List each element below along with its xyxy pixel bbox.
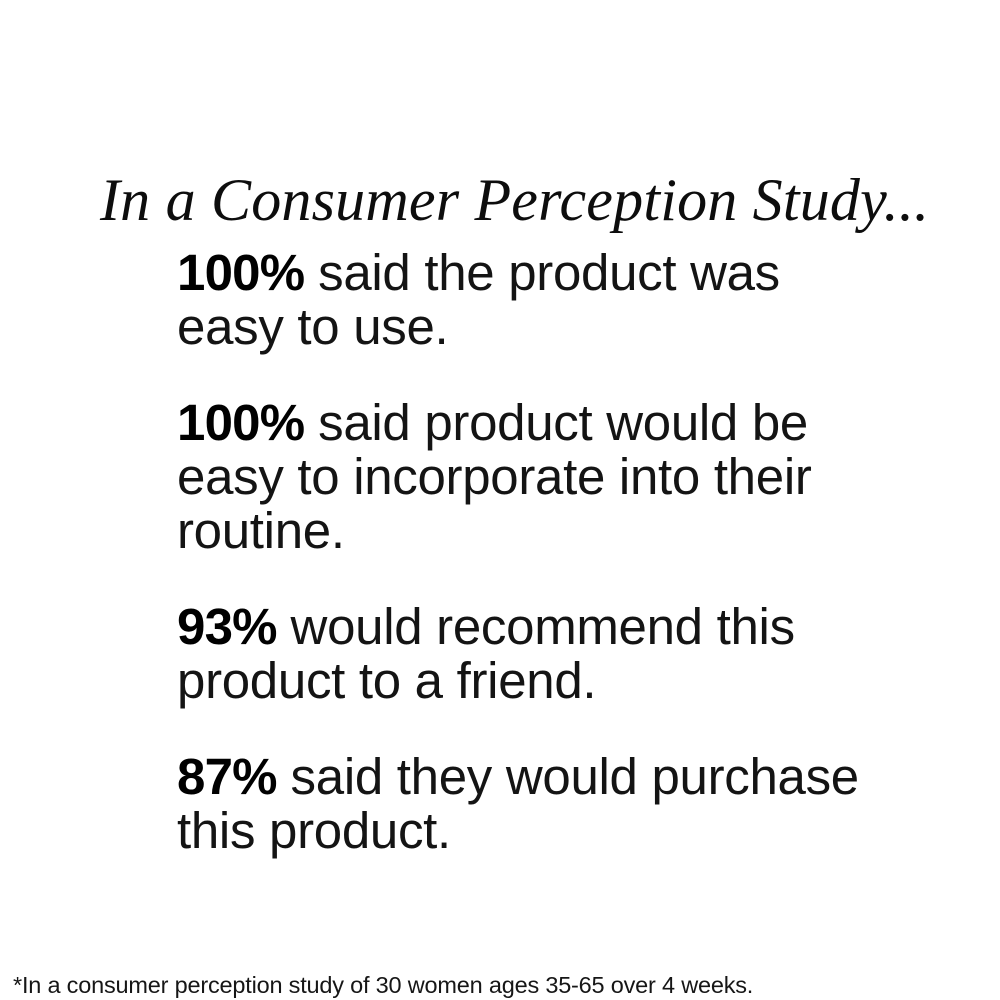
stat-percentage: 100% xyxy=(177,244,304,301)
stat-percentage: 100% xyxy=(177,394,304,451)
page-title: In a Consumer Perception Study... xyxy=(100,166,910,234)
stat-item: 93% would recommend this product to a fr… xyxy=(177,600,877,708)
stat-item: 100% said product would be easy to incor… xyxy=(177,396,877,558)
consumer-perception-study-card: In a Consumer Perception Study... 100% s… xyxy=(0,0,1000,1000)
stat-list: 100% said the product was easy to use. 1… xyxy=(177,246,877,858)
stat-percentage: 93% xyxy=(177,598,277,655)
stat-percentage: 87% xyxy=(177,748,277,805)
study-footnote: *In a consumer perception study of 30 wo… xyxy=(13,970,993,1000)
stat-item: 87% said they would purchase this produc… xyxy=(177,750,877,858)
stat-description: said they would purchase this product. xyxy=(177,748,859,859)
stat-item: 100% said the product was easy to use. xyxy=(177,246,877,354)
